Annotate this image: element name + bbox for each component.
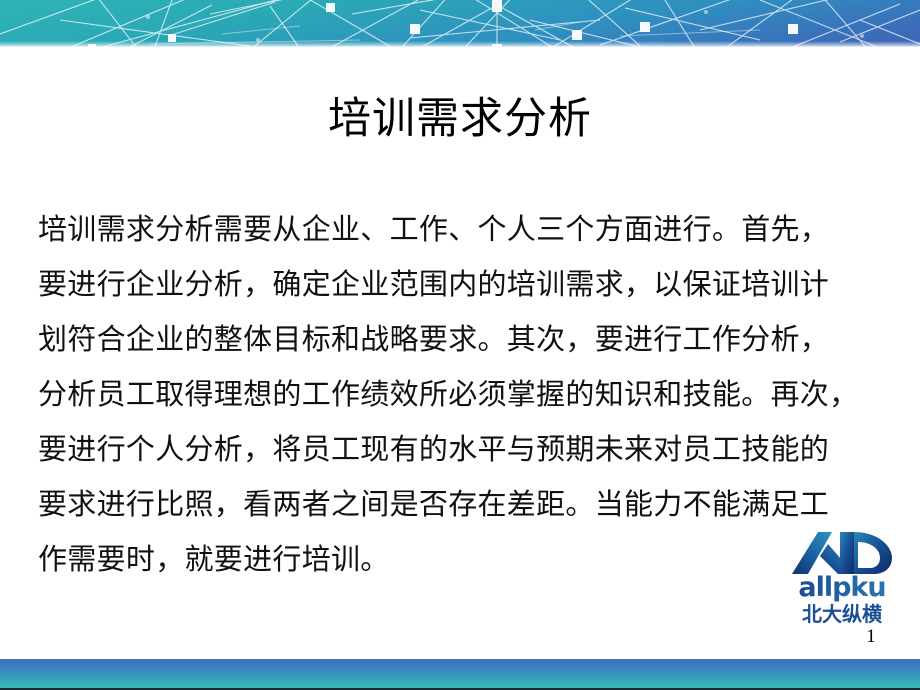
- bottom-bar: [0, 659, 920, 688]
- logo-chinese-name: 北大纵横: [783, 602, 901, 626]
- page-number: 1: [858, 626, 884, 648]
- logo-wordmark: allpku: [783, 574, 901, 602]
- body-line: 要进行企业分析，确定企业范围内的培训需求，以保证培训计: [38, 258, 894, 313]
- body-line: 作需要时，就要进行培训。: [38, 533, 894, 588]
- network-pattern-graphic: [0, 0, 920, 47]
- body-line: 要求进行比照，看两者之间是否存在差距。当能力不能满足工: [38, 478, 894, 533]
- allpku-monogram-icon: [788, 530, 896, 576]
- body-line: 划符合企业的整体目标和战略要求。其次，要进行工作分析，: [38, 313, 894, 368]
- body-paragraph: 培训需求分析需要从企业、工作、个人三个方面进行。首先， 要进行企业分析，确定企业…: [38, 203, 894, 588]
- body-line: 培训需求分析需要从企业、工作、个人三个方面进行。首先，: [38, 203, 894, 258]
- company-logo: allpku 北大纵横: [783, 530, 901, 626]
- top-banner: [0, 0, 920, 47]
- body-line: 分析员工取得理想的工作绩效所必须掌握的知识和技能。再次，: [38, 368, 894, 423]
- presentation-slide: 培训需求分析 培训需求分析需要从企业、工作、个人三个方面进行。首先， 要进行企业…: [0, 0, 920, 690]
- page-title: 培训需求分析: [0, 92, 920, 146]
- banner-bottom-fade: [0, 41, 920, 47]
- body-line: 要进行个人分析，将员工现有的水平与预期未来对员工技能的: [38, 423, 894, 478]
